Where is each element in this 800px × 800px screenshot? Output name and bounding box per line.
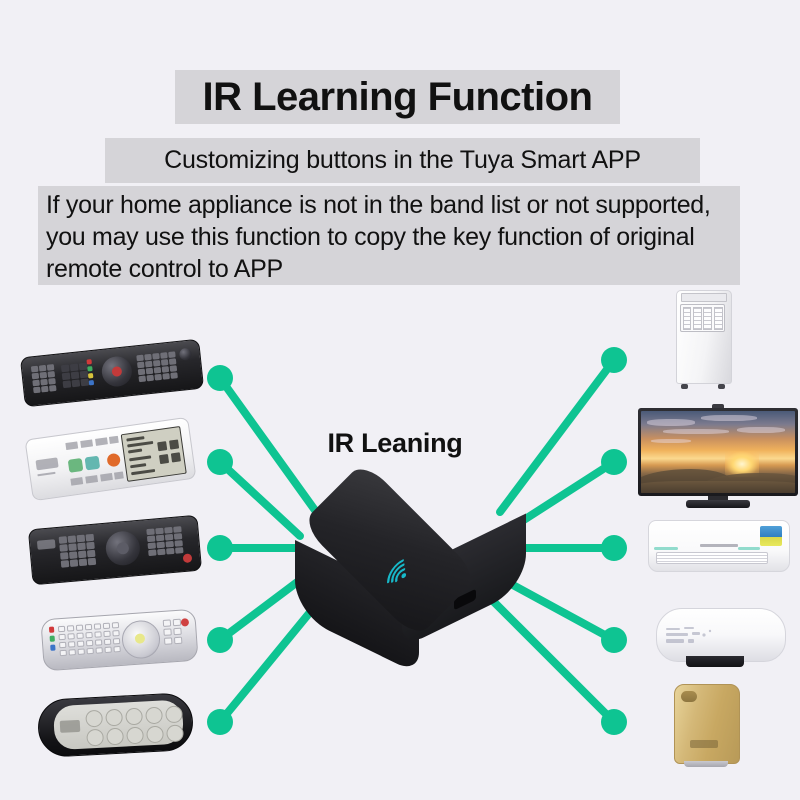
- brand-mark: [60, 720, 81, 733]
- spoke-dot-left-3: [207, 535, 233, 561]
- spoke-dot-right-1: [601, 347, 627, 373]
- spoke-dot-right-3: [601, 535, 627, 561]
- keypad-block-mid: [61, 363, 89, 389]
- keypad-block-left: [31, 364, 57, 393]
- brand-mark: [37, 539, 56, 550]
- spoke-dot-left-5: [207, 709, 233, 735]
- tv-screen-image: [641, 411, 795, 493]
- appl-water-heater: [656, 608, 784, 672]
- infographic-page: IR Learning Function Customizing buttons…: [0, 0, 800, 800]
- ir-hub-device: [262, 470, 538, 630]
- remote-silver: [40, 609, 198, 672]
- decal-graphic: [664, 626, 720, 648]
- hub-label: IR Leaning: [300, 428, 490, 459]
- spoke-dot-right-2: [601, 449, 627, 475]
- appl-tv: [638, 408, 798, 508]
- vent-grille: [680, 304, 725, 332]
- keypad-function: [163, 619, 183, 645]
- arrow-left-button: [68, 458, 84, 473]
- tv-stand-base: [686, 500, 750, 508]
- spoke-dot-right-4: [601, 627, 627, 653]
- page-body-text: If your home appliance is not in the ban…: [38, 186, 740, 285]
- caster-wheel: [718, 384, 725, 389]
- control-panel: [690, 740, 718, 748]
- appl-portable-ac: [672, 288, 734, 388]
- control-panel: [681, 293, 727, 302]
- appliance-base: [684, 761, 728, 767]
- vent-grille: [681, 691, 697, 702]
- caster-wheel: [681, 384, 688, 389]
- energy-label: [760, 526, 782, 546]
- page-title: IR Learning Function: [175, 70, 620, 124]
- page-subtitle: Customizing buttons in the Tuya Smart AP…: [105, 138, 700, 183]
- appl-split-ac: [648, 520, 790, 572]
- control-panel: [686, 656, 744, 667]
- remote-oval: [37, 692, 195, 758]
- vent-grille: [656, 552, 768, 564]
- keypad-numeric: [58, 622, 121, 656]
- keypad-numeric: [59, 534, 97, 568]
- lcd-display: [121, 426, 187, 482]
- spoke-dot-right-5: [601, 709, 627, 735]
- spoke-dot-left-1: [207, 365, 233, 391]
- appl-purifier: [672, 684, 742, 770]
- keypad-block-right: [136, 351, 178, 382]
- spoke-dot-left-4: [207, 627, 233, 653]
- brand-mark: [700, 544, 738, 547]
- keypad-function: [146, 526, 183, 556]
- spoke-dot-left-2: [207, 449, 233, 475]
- arrow-right-button: [85, 456, 101, 471]
